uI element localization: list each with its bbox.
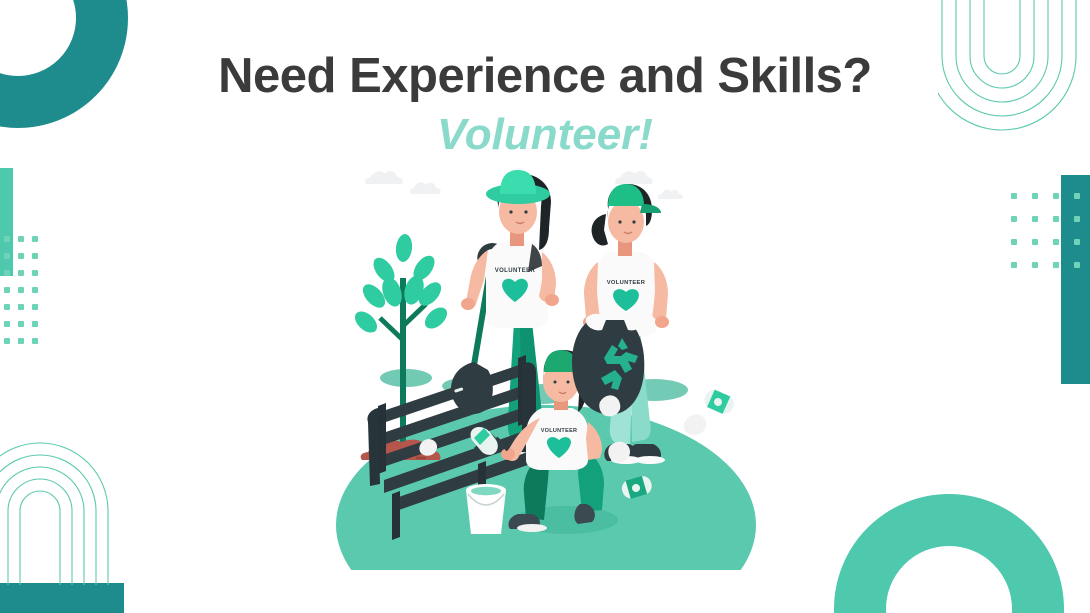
bottom-left-arcs-decoration bbox=[0, 425, 124, 585]
headline-primary: Need Experience and Skills? bbox=[0, 44, 1090, 108]
svg-text:VOLUNTEER: VOLUNTEER bbox=[607, 280, 646, 286]
bottom-right-ring-decoration bbox=[834, 494, 1064, 613]
right-accent-bar-decoration bbox=[1061, 175, 1090, 384]
slide-canvas: Need Experience and Skills? Volunteer! bbox=[0, 0, 1090, 613]
svg-text:VOLUNTEER: VOLUNTEER bbox=[495, 268, 536, 274]
paint-bucket bbox=[466, 484, 506, 534]
volunteers-cleaning-park-illustration: VOLUNTEER bbox=[318, 150, 788, 570]
headline-block: Need Experience and Skills? Volunteer! bbox=[0, 44, 1090, 162]
right-dot-grid-decoration bbox=[1011, 193, 1090, 285]
left-dot-grid-decoration bbox=[4, 236, 46, 355]
bottom-left-bar-decoration bbox=[0, 583, 124, 613]
svg-text:VOLUNTEER: VOLUNTEER bbox=[541, 428, 578, 434]
left-accent-bar-decoration bbox=[0, 168, 13, 276]
